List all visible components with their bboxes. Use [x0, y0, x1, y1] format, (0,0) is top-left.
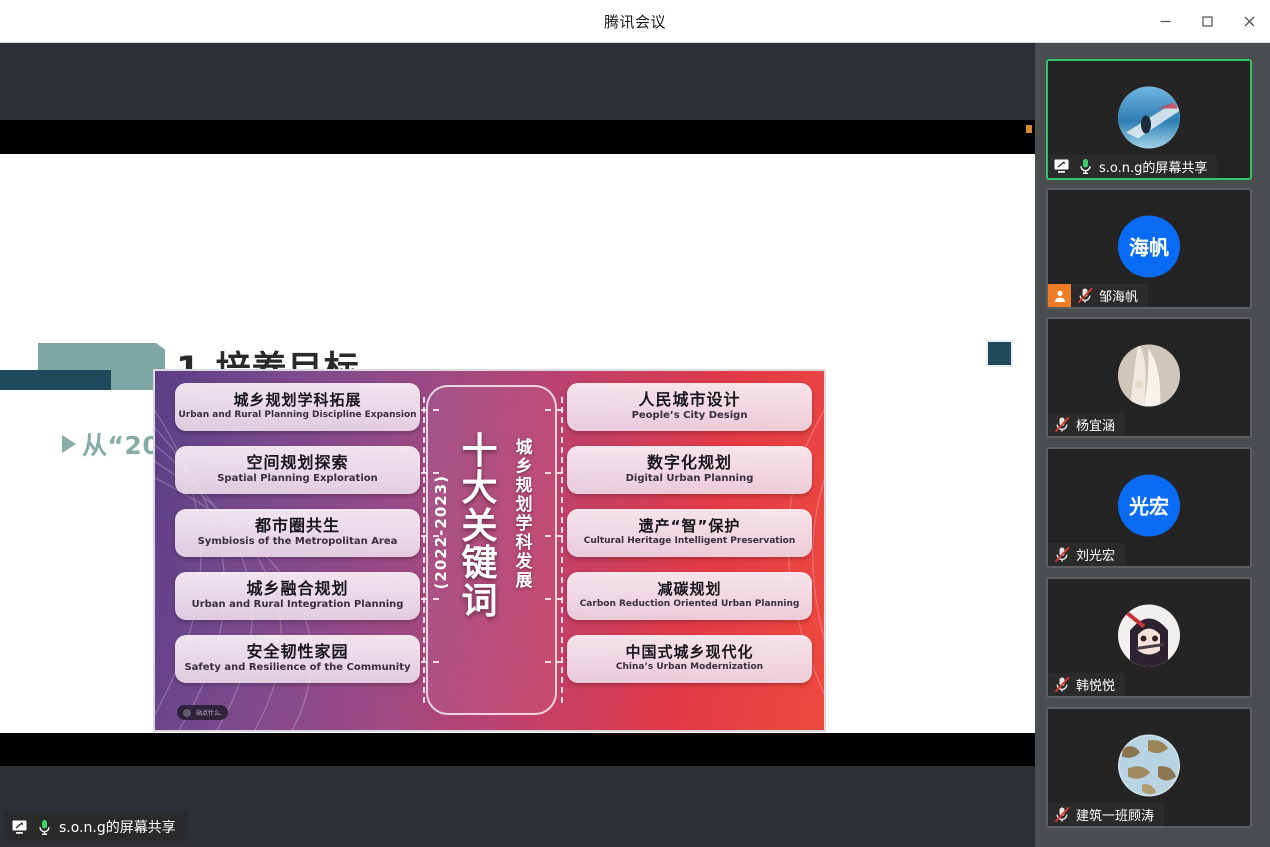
- keyword-chip-en: Cultural Heritage Intelligent Preservati…: [584, 536, 796, 547]
- title-bar: 腾讯会议: [0, 0, 1270, 43]
- keyword-chip-en: Digital Urban Planning: [626, 473, 754, 485]
- mic-muted-icon: [1053, 546, 1071, 564]
- avatar-initials: 光宏: [1129, 491, 1169, 520]
- figure-watermark: 站点什么.: [177, 705, 228, 720]
- capsule-year-range: (2022-2023): [432, 475, 450, 589]
- keyword-chip: 城乡融合规划 Urban and Rural Integration Plann…: [175, 572, 420, 620]
- screen-share-icon: [11, 818, 29, 836]
- participant-name: s.o.n.g的屏幕共享: [1099, 157, 1207, 176]
- keyword-chip-en: China’s Urban Modernization: [616, 662, 763, 673]
- avatar: [1118, 86, 1180, 148]
- keyword-chip-cn: 安全韧性家园: [246, 644, 348, 661]
- mic-muted-icon: [1053, 676, 1071, 694]
- keyword-chip: 遗产“智”保护 Cultural Heritage Intelligent Pr…: [567, 509, 812, 557]
- keyword-chip: 空间规划探索 Spatial Planning Exploration: [175, 446, 420, 494]
- keyword-chip-en: Symbiosis of the Metropolitan Area: [198, 536, 398, 548]
- slide-decoration-square: [986, 340, 1013, 367]
- keyword-chip-cn: 遗产“智”保护: [639, 519, 741, 535]
- infographic-center-capsule: (2022-2023) 十大关键词 城乡规划学科发展: [426, 385, 557, 715]
- keyword-chip-cn: 城乡融合规划: [246, 581, 348, 598]
- keyword-chip-en: Urban and Rural Integration Planning: [192, 599, 404, 611]
- keyword-chip-en: Safety and Resilience of the Community: [184, 662, 410, 674]
- presentation-slide: 1.培养目标 从“2022年第十九届中国城市规划学科发展论坛”中确立发展方向: [0, 154, 1035, 733]
- watermark-text: 站点什么.: [196, 708, 222, 717]
- participant-tile[interactable]: s.o.n.g的屏幕共享: [1046, 59, 1252, 180]
- participant-name: 刘光宏: [1076, 545, 1115, 564]
- keyword-chip: 人民城市设计 People’s City Design: [567, 383, 812, 431]
- keyword-chip: 数字化规划 Digital Urban Planning: [567, 446, 812, 494]
- keyword-chip: 安全韧性家园 Safety and Resilience of the Comm…: [175, 635, 420, 683]
- participant-name: 韩悦悦: [1076, 675, 1115, 694]
- participant-name: 杨宜涵: [1076, 415, 1115, 434]
- mic-on-icon: [35, 818, 53, 836]
- participant-namebar: 杨宜涵: [1048, 413, 1125, 436]
- keyword-chip-cn: 人民城市设计: [638, 392, 740, 409]
- connector-line-left: [423, 397, 425, 703]
- mic-muted-icon: [1076, 287, 1094, 305]
- keyword-chip: 都市圈共生 Symbiosis of the Metropolitan Area: [175, 509, 420, 557]
- triangle-bullet-icon: [62, 435, 76, 453]
- participant-name: 建筑一班顾涛: [1076, 805, 1154, 824]
- avatar-initials: 海帆: [1129, 232, 1169, 261]
- capsule-side-text: 城乡规划学科发展: [514, 439, 534, 591]
- participant-tile[interactable]: 海帆 邹海帆: [1046, 188, 1252, 309]
- keyword-chip-cn: 空间规划探索: [246, 455, 348, 472]
- meeting-window: 腾讯会议 1.培养目标 从“2022年第十九届中: [0, 0, 1270, 847]
- keyword-chip-en: Urban and Rural Planning Discipline Expa…: [178, 410, 416, 421]
- shared-screen-stage[interactable]: 1.培养目标 从“2022年第十九届中国城市规划学科发展论坛”中确立发展方向: [0, 43, 1035, 847]
- stage-black-band-bottom: [0, 733, 1035, 766]
- avatar: [1118, 344, 1180, 406]
- participant-tile[interactable]: 杨宜涵: [1046, 317, 1252, 438]
- screen-share-status-label: s.o.n.g的屏幕共享: [4, 813, 188, 841]
- participant-namebar: 建筑一班顾涛: [1048, 803, 1164, 826]
- connector-line-right: [561, 397, 563, 703]
- keyword-chip-cn: 城乡规划学科拓展: [233, 393, 361, 409]
- participant-namebar: 邹海帆: [1048, 284, 1148, 307]
- keyword-chip-cn: 减碳规划: [657, 582, 721, 598]
- keyword-chip: 中国式城乡现代化 China’s Urban Modernization: [567, 635, 812, 683]
- keyword-chip: 减碳规划 Carbon Reduction Oriented Urban Pla…: [567, 572, 812, 620]
- keyword-chip-cn: 都市圈共生: [255, 518, 340, 535]
- keyword-chip-en: People’s City Design: [632, 410, 748, 422]
- participant-tile[interactable]: 建筑一班顾涛: [1046, 707, 1252, 828]
- window-controls: [1144, 0, 1270, 43]
- participant-name: 邹海帆: [1099, 286, 1138, 305]
- keyword-chip: 城乡规划学科拓展 Urban and Rural Planning Discip…: [175, 383, 420, 431]
- keyword-chip-en: Spatial Planning Exploration: [217, 473, 378, 485]
- watermark-avatar-icon: [183, 709, 191, 717]
- avatar: [1118, 604, 1180, 666]
- infographic-image: 城乡规划学科拓展 Urban and Rural Planning Discip…: [153, 369, 826, 732]
- stage-letterbox-top: [0, 43, 1035, 120]
- capsule-headline: 十大关键词: [460, 433, 500, 620]
- participant-namebar: 韩悦悦: [1048, 673, 1125, 696]
- mic-muted-icon: [1053, 806, 1071, 824]
- window-title: 腾讯会议: [604, 11, 666, 32]
- mic-on-icon: [1076, 158, 1094, 176]
- participant-rail[interactable]: s.o.n.g的屏幕共享 海帆: [1035, 43, 1270, 847]
- slide-decoration-dark: [0, 370, 111, 390]
- screen-share-icon: [1053, 158, 1071, 176]
- participant-tile[interactable]: 韩悦悦: [1046, 577, 1252, 698]
- keyword-chip-en: Carbon Reduction Oriented Urban Planning: [580, 599, 800, 610]
- participant-tile[interactable]: 光宏 刘光宏: [1046, 447, 1252, 568]
- maximize-button[interactable]: [1186, 0, 1228, 43]
- close-button[interactable]: [1228, 0, 1270, 43]
- keyword-chip-cn: 中国式城乡现代化: [625, 645, 753, 661]
- stage-black-band-top: [0, 120, 1035, 154]
- keyword-chip-cn: 数字化规划: [647, 455, 732, 472]
- recording-indicator-dot: [1026, 125, 1032, 133]
- infographic-left-column: 城乡规划学科拓展 Urban and Rural Planning Discip…: [175, 383, 420, 698]
- infographic-right-column: 人民城市设计 People’s City Design 数字化规划 Digita…: [567, 383, 812, 698]
- host-badge-icon: [1048, 284, 1071, 307]
- avatar: 光宏: [1118, 474, 1180, 536]
- participant-namebar: s.o.n.g的屏幕共享: [1048, 155, 1217, 178]
- participant-namebar: 刘光宏: [1048, 543, 1125, 566]
- avatar: [1118, 734, 1180, 796]
- screen-share-status-text: s.o.n.g的屏幕共享: [59, 817, 176, 837]
- mic-muted-icon: [1053, 416, 1071, 434]
- avatar: 海帆: [1118, 215, 1180, 277]
- minimize-button[interactable]: [1144, 0, 1186, 43]
